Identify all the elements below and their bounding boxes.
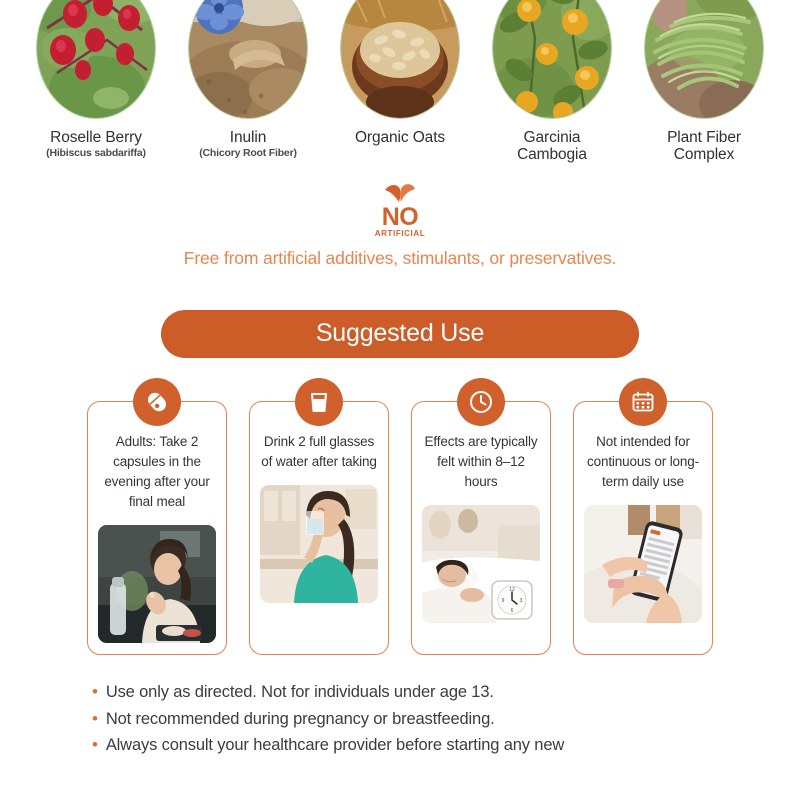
woman-sleeping-clock-photo: 123 69 xyxy=(422,505,540,623)
svg-text:6: 6 xyxy=(511,608,514,614)
svg-text:9: 9 xyxy=(502,598,505,604)
ingredient-name: Roselle Berry xyxy=(50,129,142,146)
ingredient-item: Plant Fiber Complex xyxy=(639,0,769,165)
badge-artificial-text: ARTIFICIAL xyxy=(375,229,425,238)
use-cards-row: Adults: Take 2 capsules in the evening a… xyxy=(0,401,800,655)
ingredient-name: Garcinia Cambogia xyxy=(487,129,617,164)
no-artificial-badge: NO ARTIFICIAL xyxy=(0,182,800,238)
ingredient-name: Plant Fiber Complex xyxy=(639,129,769,164)
bullet-icon: • xyxy=(92,706,98,732)
hands-holding-phone-photo xyxy=(584,505,702,623)
badge-no-text: NO xyxy=(382,207,419,228)
garcinia-cambogia-photo xyxy=(493,0,611,118)
ingredients-row: Roselle Berry (Hibiscus sabdariffa) xyxy=(0,0,800,165)
ingredient-item: Organic Oats xyxy=(335,0,465,147)
roselle-berry-photo xyxy=(37,0,155,118)
ingredient-subtitle: (Chicory Root Fiber) xyxy=(199,147,297,159)
note-text: Not recommended during pregnancy or brea… xyxy=(106,706,495,733)
note-text: Always consult your healthcare provider … xyxy=(106,732,564,759)
card-text: Drink 2 full glasses of water after taki… xyxy=(258,432,380,472)
card-text: Adults: Take 2 capsules in the evening a… xyxy=(96,432,218,512)
ingredient-name: Organic Oats xyxy=(355,129,445,146)
clock-icon xyxy=(457,378,505,426)
card-text: Effects are typically felt within 8–12 h… xyxy=(420,432,542,492)
use-card: Effects are typically felt within 8–12 h… xyxy=(411,401,551,655)
svg-text:3: 3 xyxy=(520,598,523,604)
ingredient-name: Inulin xyxy=(230,129,266,146)
woman-drinking-water-photo xyxy=(260,485,378,603)
ingredient-subtitle: (Hibiscus sabdariffa) xyxy=(46,147,146,159)
water-glass-icon xyxy=(295,378,343,426)
organic-oats-photo xyxy=(341,0,459,118)
notes-list: • Use only as directed. Not for individu… xyxy=(0,679,800,759)
calendar-icon xyxy=(619,378,667,426)
woman-taking-capsule-photo xyxy=(98,525,216,643)
use-card: Drink 2 full glasses of water after taki… xyxy=(249,401,389,655)
note-item: • Use only as directed. Not for individu… xyxy=(92,679,760,706)
suggested-use-banner: Suggested Use xyxy=(161,310,639,358)
ingredient-item: Garcinia Cambogia xyxy=(487,0,617,165)
note-item: • Not recommended during pregnancy or br… xyxy=(92,706,760,733)
card-text: Not intended for continuous or long-term… xyxy=(582,432,704,492)
note-item: • Always consult your healthcare provide… xyxy=(92,732,760,759)
note-text: Use only as directed. Not for individual… xyxy=(106,679,494,706)
plant-fiber-photo xyxy=(645,0,763,118)
suggested-use-banner-wrap: Suggested Use xyxy=(0,310,800,358)
use-card: Adults: Take 2 capsules in the evening a… xyxy=(87,401,227,655)
tagline: Free from artificial additives, stimulan… xyxy=(0,248,800,269)
inulin-powder-photo xyxy=(189,0,307,118)
bullet-icon: • xyxy=(92,679,98,705)
capsule-icon xyxy=(133,378,181,426)
ingredient-item: Inulin (Chicory Root Fiber) xyxy=(183,0,313,159)
use-card: Not intended for continuous or long-term… xyxy=(573,401,713,655)
bullet-icon: • xyxy=(92,732,98,758)
ingredient-item: Roselle Berry (Hibiscus sabdariffa) xyxy=(31,0,161,159)
